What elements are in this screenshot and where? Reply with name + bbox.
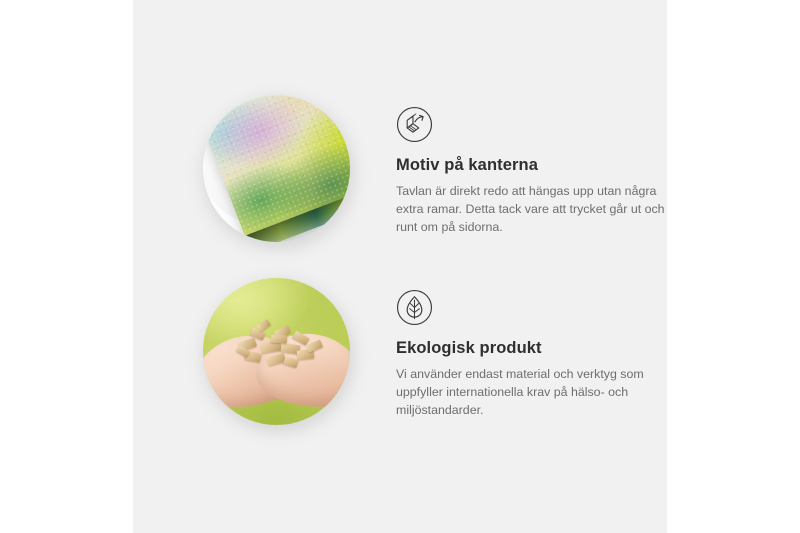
feature-description: Vi använder endast material och verktyg …: [396, 365, 678, 420]
feature-text-ekologisk-produkt: Ekologisk produkt Vi använder endast mat…: [396, 278, 678, 420]
wrapped-canvas-edge-icon: [396, 106, 433, 143]
wood-chips-pile: [235, 322, 327, 374]
canvas-print-body: [203, 95, 350, 242]
feature-title: Ekologisk produkt: [396, 339, 678, 359]
feature-title: Motiv på kanterna: [396, 156, 678, 176]
feature-description: Tavlan är direkt redo att hängas upp uta…: [396, 182, 678, 237]
product-feature-panel: Motiv på kanterna Tavlan är direkt redo …: [0, 0, 800, 533]
leaf-icon: [396, 289, 433, 326]
feature-text-motiv-pa-kanterna: Motiv på kanterna Tavlan är direkt redo …: [396, 95, 678, 237]
feature-block-ekologisk-produkt: Ekologisk produkt Vi använder endast mat…: [203, 278, 678, 425]
content-panel: Motiv på kanterna Tavlan är direkt redo …: [133, 0, 667, 533]
hands-holding-wood-chips-photo: [203, 278, 350, 425]
canvas-print-corner-photo: [203, 95, 350, 242]
feature-block-motiv-pa-kanterna: Motiv på kanterna Tavlan är direkt redo …: [203, 95, 678, 242]
